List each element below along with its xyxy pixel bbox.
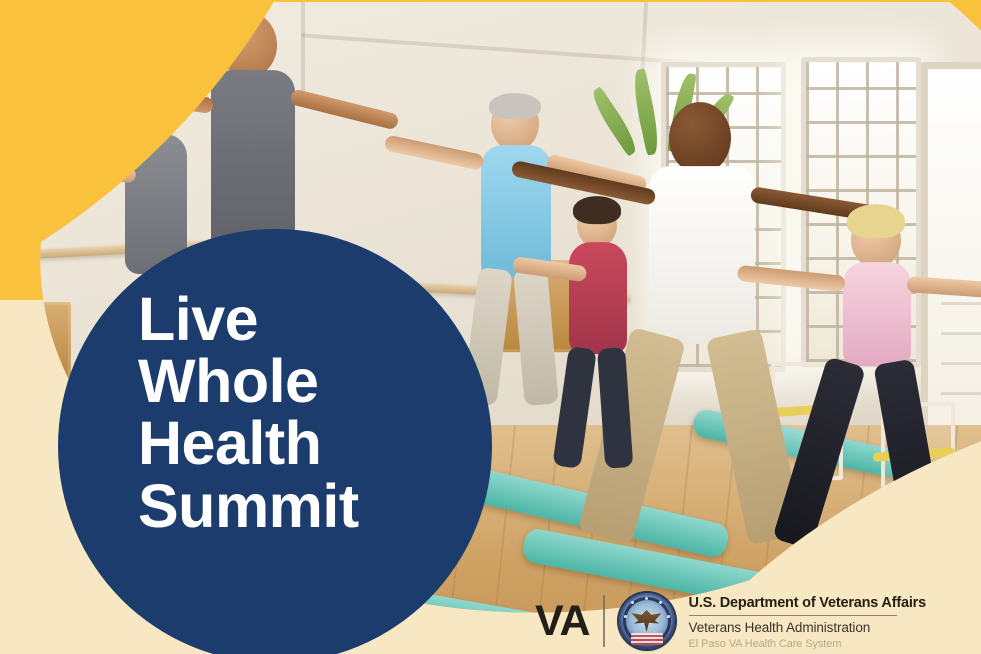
va-facility-name: El Paso VA Health Care System — [689, 638, 926, 650]
headline-line-1: Live — [138, 288, 484, 350]
wall-ladder — [941, 362, 981, 365]
seal-star — [659, 601, 662, 604]
headline-line-3: Health — [138, 412, 484, 474]
wall-ladder — [941, 302, 981, 305]
va-wordmark: VA — [535, 600, 590, 643]
wall-ladder — [941, 332, 981, 335]
headline-line-4: Summit — [138, 475, 484, 537]
va-administration-name: Veterans Health Administration — [689, 620, 926, 635]
va-text-rule — [689, 615, 897, 616]
va-logo-lockup: VA U.S. Department of Veterans Affairs V… — [535, 588, 926, 654]
seal-star — [667, 615, 670, 618]
va-department-name: U.S. Department of Veterans Affairs — [689, 595, 926, 611]
va-text-block: U.S. Department of Veterans Affairs Vete… — [689, 593, 926, 650]
wall-ladder — [941, 392, 981, 395]
seal-flag-icon — [631, 633, 663, 645]
lockup-divider — [603, 595, 605, 647]
seal-star — [631, 601, 634, 604]
seal-star — [645, 597, 648, 600]
seal-star — [624, 615, 627, 618]
wall-seam — [301, 2, 305, 92]
page-title: Live Whole Health Summit — [84, 288, 484, 537]
headline-line-2: Whole — [138, 350, 484, 412]
poster-canvas: Live Whole Health Summit VA U.S. Departm… — [0, 0, 981, 654]
va-seal-icon — [619, 593, 675, 649]
